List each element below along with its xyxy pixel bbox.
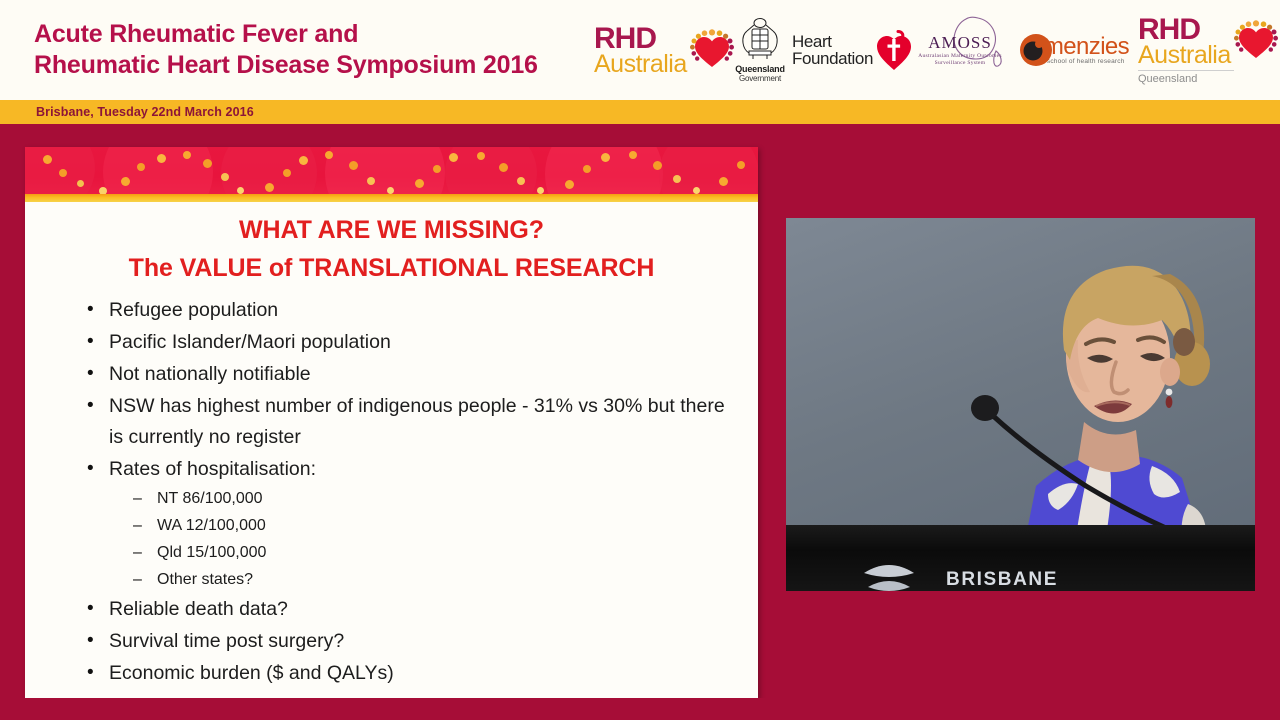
list-item: WA 12/100,000 [133,512,742,539]
bullet-text: Reliable death data? [109,598,288,620]
footer-strip [0,698,1280,720]
sub-bullet-text: Qld 15/100,000 [157,544,266,561]
amoss-logo-sub1: Australasian Maternity Outcomes [918,53,1002,60]
bullet-text: Rates of hospitalisation: [109,458,316,480]
page-title: Acute Rheumatic Fever and Rheumatic Hear… [34,19,594,81]
list-item: Pacific Islander/Maori population [87,327,742,358]
speaker-video-panel[interactable]: BRISBANE [786,218,1255,591]
lectern: BRISBANE [786,525,1255,591]
slide-decorative-banner [25,147,758,202]
menzies-logo-word: menzies [1044,36,1129,58]
bullet-text: NSW has highest number of indigenous peo… [109,395,725,448]
list-item: Qld 15/100,000 [133,539,742,566]
rhd-logo-word: RHD [594,25,687,53]
menzies-logo: menzies school of health research [1018,5,1130,95]
symposium-header: Acute Rheumatic Fever and Rheumatic Hear… [0,0,1280,100]
event-date-text: Brisbane, Tuesday 22nd March 2016 [36,105,254,119]
sub-bullet-text: WA 12/100,000 [157,517,266,534]
menzies-circle-icon [1019,33,1053,67]
slide-sub-bullet-list: NT 86/100,000 WA 12/100,000 Qld 15/100,0… [133,485,742,593]
list-item: Refugee population [87,295,742,326]
bullet-text: Survival time post surgery? [109,630,344,652]
list-item: Economic burden ($ and QALYs) [87,658,742,689]
list-item: Reliable death data? [87,594,742,625]
sponsor-logo-strip: RHD Australia [594,0,1280,100]
list-item: Not nationally notifiable [87,359,742,390]
brisbane-city-logo-icon [862,561,916,591]
rhd-australia-queensland-logo: RHD Australia [1138,5,1262,95]
slide-title-line2: The VALUE of TRANSLATIONAL RESEARCH [41,249,742,287]
slide-bullet-list: Refugee population Pacific Islander/Maor… [87,295,742,689]
bullet-text: Economic burden ($ and QALYs) [109,662,394,684]
queensland-coat-of-arms-icon [735,17,785,63]
amoss-logo-sub2: Surveillance System [918,60,1002,67]
rhd-qld-heart-icon [1234,20,1278,62]
heart-foundation-line2: Foundation [792,50,873,67]
sub-bullet-text: NT 86/100,000 [157,490,263,507]
qld-logo-line1: Queensland [735,64,785,74]
slide-title-line1: WHAT ARE WE MISSING? [41,211,742,249]
menzies-logo-sub: school of health research [1047,58,1129,65]
podium-label: BRISBANE [946,569,1058,591]
list-item: NT 86/100,000 [133,485,742,512]
amoss-logo: AMOSS Australasian Maternity Outcomes Su… [910,5,1010,95]
bullet-text: Not nationally notifiable [109,363,311,385]
list-item: NSW has highest number of indigenous peo… [87,391,742,453]
heart-foundation-line1: Heart [792,33,873,50]
qld-logo-line2: Government [739,74,781,83]
queensland-government-logo: Queensland Government [724,5,796,95]
sub-bullet-text: Other states? [157,571,253,588]
list-item: Other states? [133,566,742,593]
rhd-qld-logo-subword: Australia [1138,43,1231,67]
list-item: Survival time post surgery? [87,626,742,657]
list-item: Rates of hospitalisation: NT 86/100,000 … [87,454,742,593]
amoss-logo-word: AMOSS [918,33,1002,53]
heart-foundation-heart-icon [874,30,914,70]
slide-panel[interactable]: WHAT ARE WE MISSING? The VALUE of TRANSL… [25,147,758,698]
bullet-text: Pacific Islander/Maori population [109,331,391,353]
rhd-logo-subword: Australia [594,52,687,76]
rhd-qld-qualifier: Queensland [1138,70,1234,85]
presentation-viewer: Acute Rheumatic Fever and Rheumatic Hear… [0,0,1280,720]
bullet-text: Refugee population [109,299,278,321]
heart-foundation-logo: Heart Foundation [804,5,902,95]
rhd-australia-logo: RHD Australia [594,5,716,95]
event-date-bar: Brisbane, Tuesday 22nd March 2016 [0,100,1280,124]
rhd-qld-logo-word: RHD [1138,16,1231,44]
banner-gold-rule [25,194,758,202]
slide-content: WHAT ARE WE MISSING? The VALUE of TRANSL… [25,202,758,689]
